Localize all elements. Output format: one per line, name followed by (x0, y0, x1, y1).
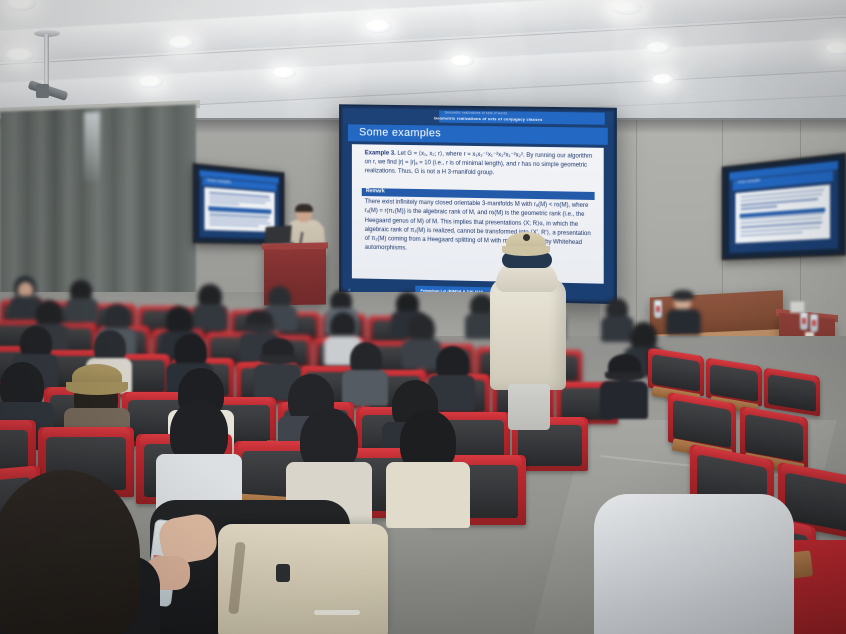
ceiling-light (365, 20, 392, 33)
side-display-right: Some examples (722, 153, 846, 261)
ceiling-light (646, 42, 671, 54)
projection-screen: Geometric realizations of sets of words … (339, 104, 617, 304)
example-paragraph: Example 3. Let G = ⟨x₁, x₂; r⟩, where r … (365, 149, 593, 180)
cap-button (523, 234, 530, 241)
slide-header-small-text: Geometric realizations of sets of words (445, 111, 508, 116)
mini-slide-title: Some examples (738, 179, 761, 185)
mini-slide-body (205, 188, 275, 232)
standing-attendee-jacket (490, 278, 566, 390)
foreground-attendee-puffer-jacket (594, 494, 794, 634)
backpack-cord (314, 610, 360, 615)
ceiling-light (825, 42, 846, 55)
backpack-strap (228, 542, 245, 615)
example-label: Example 3. (365, 150, 396, 156)
beige-backpack (218, 524, 388, 634)
projector-mount-icon (44, 34, 49, 90)
ceiling-light (6, 0, 36, 11)
example-text: Let G = ⟨x₁, x₂; r⟩, where r = x₁x₂⁻¹x₁⁻… (365, 151, 593, 177)
water-bottle (800, 312, 808, 330)
cap-brim (502, 246, 550, 256)
ceiling-light (168, 36, 194, 49)
ceiling-light (6, 48, 34, 62)
ceiling-light (652, 74, 674, 85)
projector-lens (36, 84, 49, 98)
ceiling-light (450, 55, 474, 67)
slide-title: Some examples (359, 126, 441, 139)
curtain-light-glow (84, 112, 100, 183)
backpack-buckle (276, 564, 290, 582)
ceiling-light (138, 76, 163, 88)
screen-frame: Geometric realizations of sets of words … (339, 104, 617, 304)
remark-label: Remark (366, 189, 385, 195)
lecture-hall-photo: Some examples Geo (0, 0, 846, 634)
standing-attendee (484, 232, 574, 428)
ceiling-light (272, 67, 296, 79)
presenter-hair (295, 204, 313, 212)
water-bottle (810, 314, 818, 332)
mini-slide-body (735, 184, 831, 243)
ceiling-light (612, 1, 642, 15)
mini-slide-title: Some examples (207, 178, 231, 184)
standing-attendee-legs (508, 384, 550, 430)
water-bottle (654, 300, 662, 318)
mini-slide-right: Some examples (729, 161, 838, 254)
